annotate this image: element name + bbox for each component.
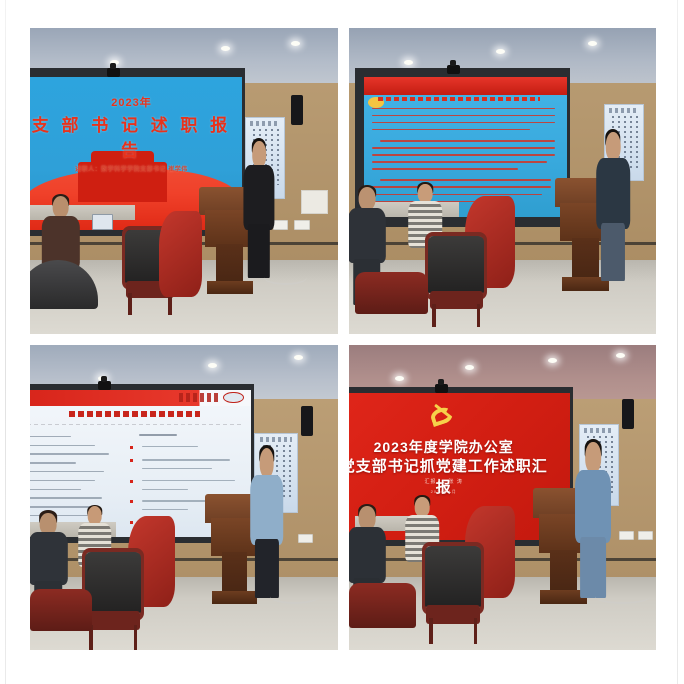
wall-socket bbox=[619, 531, 634, 540]
presenter-top-left bbox=[239, 141, 279, 275]
collage-page: 2023年 支 部 书 记 述 职 报 告 述职人：数学科学学院支部书记 崔学伟 bbox=[0, 0, 684, 684]
presenter-top-right bbox=[591, 132, 634, 279]
chair bbox=[30, 589, 92, 650]
slide-logo-text bbox=[179, 393, 221, 402]
poster-heading bbox=[260, 437, 293, 442]
slide-section-heading bbox=[378, 97, 540, 102]
slide-year: 2023年 bbox=[30, 94, 242, 110]
downlight-icon bbox=[221, 46, 230, 51]
slide-date-line: 2024年1月 bbox=[349, 489, 552, 495]
projector-icon bbox=[98, 381, 111, 390]
downlight-icon bbox=[496, 49, 505, 54]
poster-heading bbox=[609, 108, 639, 112]
photo-grid: 2023年 支 部 书 记 述 职 报 告 述职人：数学科学学院支部书记 崔学伟 bbox=[30, 28, 656, 650]
floor-cable bbox=[595, 589, 650, 604]
wall-vent bbox=[301, 190, 329, 214]
chair bbox=[355, 272, 429, 333]
projection-screen[interactable] bbox=[364, 77, 567, 218]
slide-subtitle: 述职人：数学科学学院支部书记 崔学伟 bbox=[30, 164, 242, 173]
downlight-icon bbox=[548, 358, 557, 363]
downlight-icon bbox=[404, 60, 413, 65]
presenter-bottom-left bbox=[245, 448, 288, 595]
slide-header-band bbox=[364, 77, 567, 95]
downlight-icon bbox=[294, 355, 303, 360]
chair bbox=[428, 236, 483, 328]
photo-top-left[interactable]: 2023年 支 部 书 记 述 职 报 告 述职人：数学科学学院支部书记 崔学伟 bbox=[30, 28, 338, 334]
presenter-bottom-right bbox=[570, 442, 616, 595]
wall-socket bbox=[638, 531, 653, 540]
poster-heading bbox=[584, 428, 614, 433]
photo-bottom-left[interactable] bbox=[30, 345, 338, 651]
downlight-icon bbox=[291, 41, 300, 46]
downlight-icon bbox=[208, 363, 217, 368]
wall-speaker-icon bbox=[291, 95, 303, 125]
wall-speaker-icon bbox=[622, 399, 634, 429]
wall-socket bbox=[294, 220, 309, 229]
downlight-icon bbox=[465, 365, 474, 370]
poster-heading bbox=[250, 121, 280, 126]
slide-presenter-line: 汇报人：张 涛 bbox=[349, 478, 552, 485]
chair bbox=[425, 546, 480, 644]
projector-icon bbox=[435, 384, 448, 393]
floor-cable bbox=[270, 589, 319, 604]
slide-title: 支 部 书 记 述 职 报 告 bbox=[30, 111, 242, 161]
slide-text-block: 2023年 支 部 书 记 述 职 报 告 述职人：数学科学学院支部书记 崔学伟 bbox=[30, 94, 242, 173]
draped-coat bbox=[159, 211, 202, 297]
downlight-icon bbox=[395, 376, 404, 381]
projector-icon bbox=[447, 65, 460, 74]
photo-bottom-right[interactable]: 2023年度学院办公室 党支部书记抓党建工作述职汇报 汇报人：张 涛 2024年… bbox=[349, 345, 657, 651]
chair bbox=[30, 260, 98, 333]
laptop bbox=[92, 214, 114, 229]
chair bbox=[85, 552, 140, 650]
downlight-icon bbox=[616, 353, 625, 358]
chair bbox=[349, 583, 417, 650]
slide-section-heading bbox=[69, 411, 200, 417]
wall-speaker-icon bbox=[301, 406, 313, 436]
photo-top-right[interactable] bbox=[349, 28, 657, 334]
downlight-icon bbox=[588, 41, 597, 46]
wall-socket bbox=[298, 534, 313, 543]
slide-divider bbox=[30, 424, 242, 425]
floor-cable bbox=[264, 269, 307, 284]
projector-icon bbox=[107, 68, 120, 77]
party-emblem-icon bbox=[429, 405, 459, 428]
